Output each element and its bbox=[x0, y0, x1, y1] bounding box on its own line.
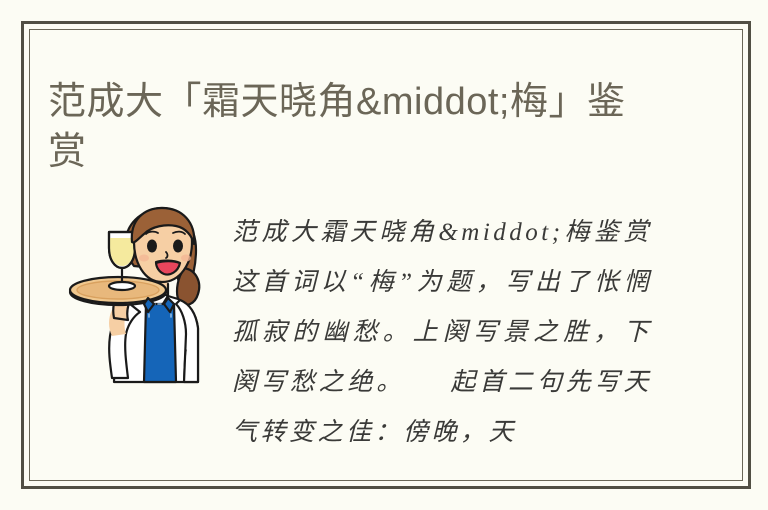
page-root: 范成大「霜天晓角&middot;梅」鉴赏 bbox=[0, 0, 768, 510]
page-title: 范成大「霜天晓角&middot;梅」鉴赏 bbox=[48, 77, 648, 177]
waitress-with-tray-illustration bbox=[56, 200, 216, 390]
article-content: 范成大霜天晓角&middot;梅鉴赏 这首词以“梅”为题，写出了怅惘孤寂的幽愁。… bbox=[40, 190, 728, 470]
article-body-text: 范成大霜天晓角&middot;梅鉴赏 这首词以“梅”为题，写出了怅惘孤寂的幽愁。… bbox=[232, 208, 652, 458]
